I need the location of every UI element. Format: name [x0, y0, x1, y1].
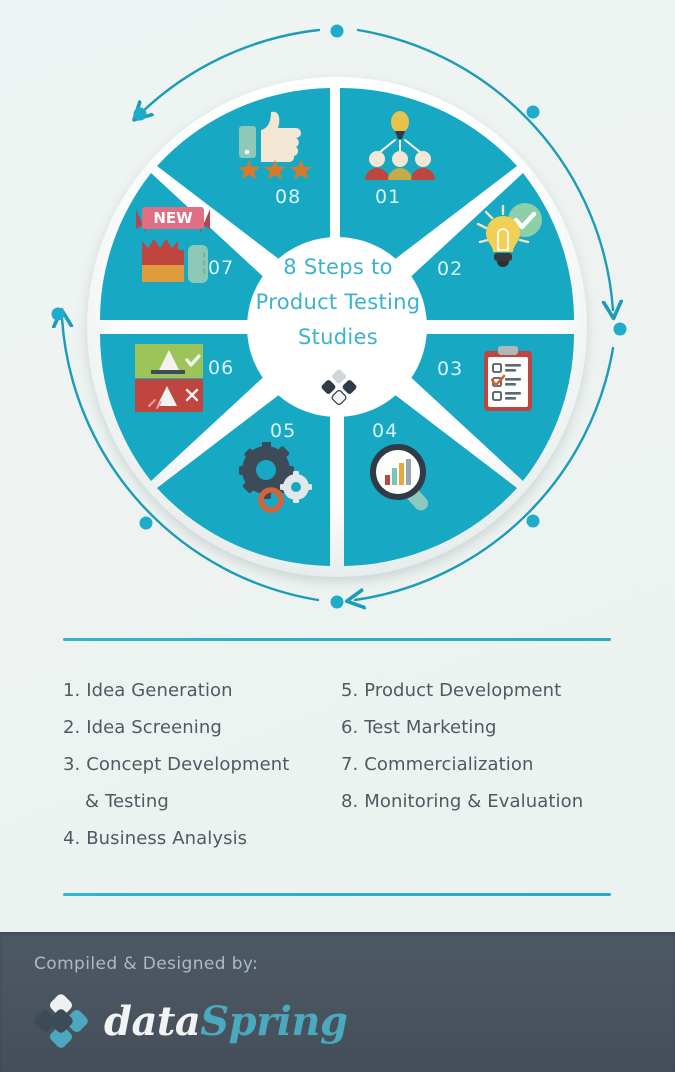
steps-list-right-column: 5. Product Development 6. Test Marketing… [341, 672, 619, 857]
infographic-page: 8 Steps to Product Testing Studies 01 02… [0, 0, 675, 1072]
list-item-label: Business Analysis [86, 828, 247, 849]
list-item-label: & Testing [63, 791, 169, 812]
list-item-number: 2. [63, 717, 80, 738]
list-item-label: Test Marketing [364, 717, 496, 738]
list-item-label: Concept Development [86, 754, 289, 775]
list-item: 2. Idea Screening [63, 709, 341, 746]
divider-bottom [63, 893, 611, 896]
list-item-label: Commercialization [364, 754, 533, 775]
list-item: 4. Business Analysis [63, 820, 341, 857]
list-item: 1. Idea Generation [63, 672, 341, 709]
list-item-number: 7. [341, 754, 358, 775]
list-item-number: 6. [341, 717, 358, 738]
arc-dot-icon [331, 596, 344, 609]
arc-dot-icon [134, 108, 147, 121]
steps-list-left-column: 1. Idea Generation 2. Idea Screening 3. … [63, 672, 341, 857]
process-wheel: 8 Steps to Product Testing Studies 01 02… [0, 0, 675, 620]
brand-wordmark: dataSpring [104, 998, 347, 1045]
arc-dot-icon [614, 323, 627, 336]
arc-dot-icon [331, 25, 344, 38]
list-item-number: 5. [341, 680, 358, 701]
brand-wordmark-part2: Spring [200, 998, 347, 1045]
list-item-continuation: & Testing [63, 783, 341, 820]
list-item-label: Idea Generation [86, 680, 232, 701]
list-item: 3. Concept Development [63, 746, 341, 783]
dataspring-diamond-logo-icon [318, 366, 360, 408]
list-item-label: Idea Screening [86, 717, 222, 738]
list-item: 6. Test Marketing [341, 709, 619, 746]
list-item: 8. Monitoring & Evaluation [341, 783, 619, 820]
dataspring-diamond-logo-icon [30, 990, 92, 1052]
list-item-label: Product Development [364, 680, 561, 701]
arc-dot-icon [52, 308, 65, 321]
arc-dot-icon [527, 515, 540, 528]
list-item: 7. Commercialization [341, 746, 619, 783]
footer-credit-label: Compiled & Designed by: [34, 954, 258, 974]
arc-dot-icon [140, 517, 153, 530]
list-item-number: 1. [63, 680, 80, 701]
steps-list: 1. Idea Generation 2. Idea Screening 3. … [63, 672, 623, 857]
list-item-label: Monitoring & Evaluation [364, 791, 583, 812]
list-item-number: 8. [341, 791, 358, 812]
list-item: 5. Product Development [341, 672, 619, 709]
wheel-graphic [0, 0, 675, 620]
arc-dot-icon [527, 106, 540, 119]
footer: Compiled & Designed by: dataSpring [0, 932, 675, 1072]
brand-wordmark-part1: data [104, 998, 200, 1045]
list-item-number: 3. [63, 754, 80, 775]
list-item-number: 4. [63, 828, 80, 849]
brand-lockup: dataSpring [30, 990, 347, 1052]
divider-top [63, 638, 611, 641]
